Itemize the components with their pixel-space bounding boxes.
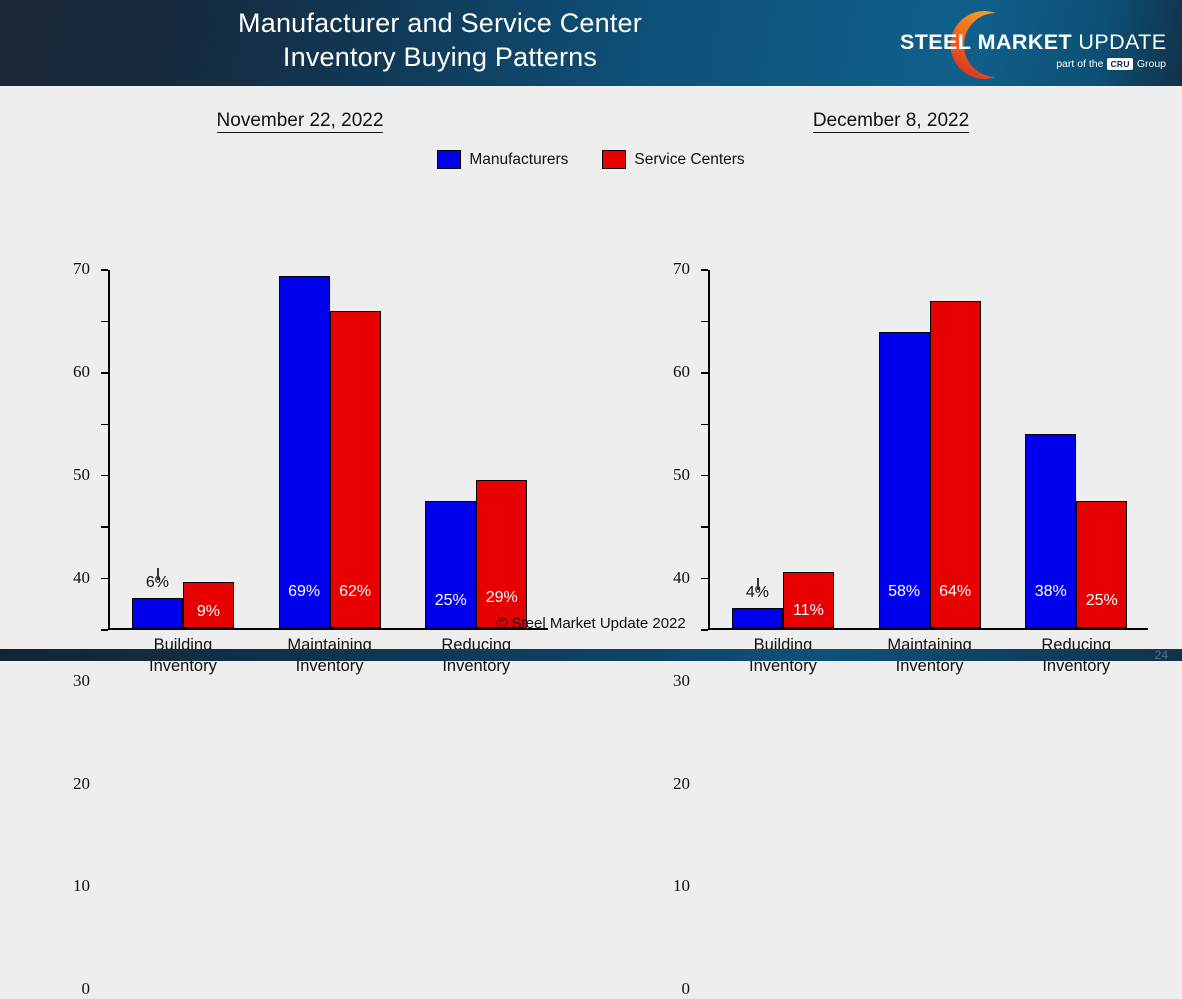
y-axis-tick-label: 0 (82, 979, 91, 999)
bar-value-label: 62% (331, 583, 380, 601)
y-axis-tick: 10 (701, 578, 708, 579)
y-axis-tick-label: 60 (73, 362, 90, 382)
legend-label-manufacturers: Manufacturers (469, 151, 568, 169)
y-axis-tick-label: 20 (73, 774, 90, 794)
y-axis-tick: 60 (701, 321, 708, 322)
page-header: Manufacturer and Service Center Inventor… (0, 0, 1182, 86)
page-title-line-2: Inventory Buying Patterns (0, 40, 880, 74)
y-axis-tick: 50 (101, 372, 108, 373)
legend-item-manufacturers: Manufacturers (437, 150, 568, 169)
y-axis-tick: 30 (101, 475, 108, 476)
logo-sub-suffix: Group (1137, 58, 1166, 70)
bar-service-centers: 29% (476, 480, 527, 628)
bar-group: 69%62%MaintainingInventory (256, 270, 403, 628)
page-title: Manufacturer and Service Center Inventor… (0, 6, 880, 74)
y-axis-tick-label: 50 (73, 465, 90, 485)
logo-wordmark: STEEL MARKET UPDATE (900, 30, 1168, 55)
y-axis-tick: 20 (101, 526, 108, 527)
bar-value-label: 29% (477, 589, 526, 607)
bar-value-label: 38% (1026, 583, 1075, 601)
logo-subtitle: part of the CRU Group (1056, 58, 1166, 70)
y-axis-tick: 40 (701, 424, 708, 425)
plot-area-november: 010203040506070 6%9%BuildingInventory69%… (108, 270, 548, 630)
bar-groups: 6%9%BuildingInventory69%62%MaintainingIn… (110, 270, 548, 628)
y-axis-tick-label: 20 (673, 774, 690, 794)
y-axis-tick-label: 50 (673, 465, 690, 485)
y-axis-tick: 40 (101, 424, 108, 425)
y-axis-tick-label: 70 (673, 259, 690, 279)
copyright-text: © Steel Market Update 2022 (0, 615, 1182, 632)
bar-service-centers: 25% (1076, 501, 1127, 629)
chart-title-november: November 22, 2022 (0, 110, 600, 132)
bar-manufacturers: 38% (1025, 434, 1076, 628)
bar-value-label: 6% (133, 574, 182, 592)
legend-swatch-manufacturers (437, 150, 461, 169)
bar-group: 6%9%BuildingInventory (110, 270, 257, 628)
bar-value-label: 25% (1077, 592, 1126, 610)
y-axis-tick: 30 (701, 475, 708, 476)
y-axis-tick-label: 0 (682, 979, 691, 999)
page-title-line-1: Manufacturer and Service Center (0, 6, 880, 40)
y-axis-tick-label: 70 (73, 259, 90, 279)
legend-swatch-service-centers (602, 150, 626, 169)
bar-group: 25%29%ReducingInventory (403, 270, 550, 628)
y-axis-tick: 70 (101, 269, 108, 270)
bar-value-label: 25% (426, 592, 475, 610)
bar-groups: 4%11%BuildingInventory58%64%MaintainingI… (710, 270, 1148, 628)
y-axis-tick-label: 60 (673, 362, 690, 382)
bar-manufacturers: 69% (279, 276, 330, 629)
bar-value-label: 4% (733, 584, 782, 602)
logo-sub-prefix: part of the (1056, 58, 1103, 70)
bar-value-label: 64% (931, 583, 980, 601)
y-axis-tick-label: 10 (673, 876, 690, 896)
label-leader-line (757, 578, 758, 590)
logo-word-market: MARKET (978, 30, 1072, 54)
bar-group: 58%64%MaintainingInventory (856, 270, 1003, 628)
y-axis-tick: 10 (101, 578, 108, 579)
y-axis-tick-label: 10 (73, 876, 90, 896)
bar-group: 38%25%ReducingInventory (1003, 270, 1150, 628)
y-axis-tick: 70 (701, 269, 708, 270)
bar-manufacturers: 25% (425, 501, 476, 629)
y-axis-tick: 50 (701, 372, 708, 373)
bar-service-centers: 62% (330, 311, 381, 628)
plot-area-december: 010203040506070 4%11%BuildingInventory58… (708, 270, 1148, 630)
footer-band: 24 (0, 649, 1182, 661)
chart-title-december: December 8, 2022 (600, 110, 1182, 132)
logo-word-steel: STEEL (900, 30, 971, 54)
bar-group: 4%11%BuildingInventory (710, 270, 857, 628)
y-axis-tick-label: 40 (73, 568, 90, 588)
y-axis-tick-label: 40 (673, 568, 690, 588)
logo-word-update: UPDATE (1078, 30, 1166, 54)
cru-badge: CRU (1107, 58, 1132, 70)
bar-manufacturers: 58% (879, 332, 930, 629)
chart-legend: Manufacturers Service Centers (0, 150, 1182, 169)
page-number: 24 (1155, 648, 1168, 662)
legend-label-service-centers: Service Centers (634, 151, 744, 169)
bar-value-label: 69% (280, 583, 329, 601)
label-leader-line (157, 568, 158, 580)
bar-value-label: 58% (880, 583, 929, 601)
y-axis-tick: 20 (701, 526, 708, 527)
steel-market-update-logo: STEEL MARKET UPDATE part of the CRU Grou… (868, 6, 1168, 82)
y-axis-tick: 60 (101, 321, 108, 322)
legend-item-service-centers: Service Centers (602, 150, 744, 169)
bar-service-centers: 64% (930, 301, 981, 628)
